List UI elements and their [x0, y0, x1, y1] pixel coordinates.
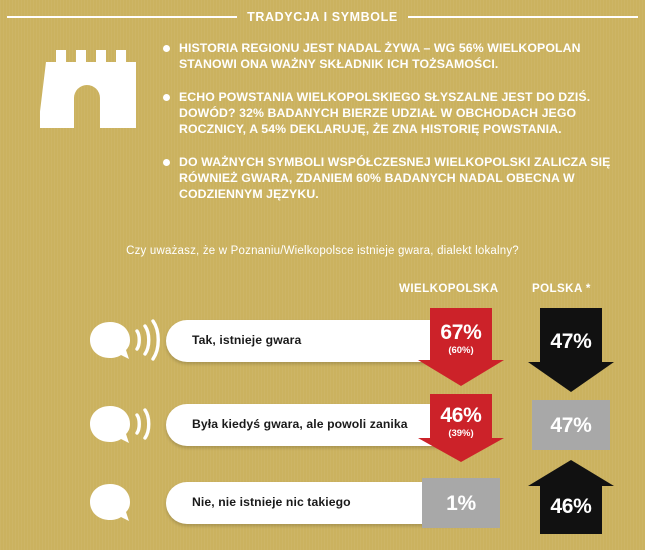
- answer-label: Nie, nie istnieje nic takiego: [166, 495, 351, 510]
- marker-polska-3: 46%: [528, 460, 614, 534]
- marker-wielkopolska-1: 67% (60%): [418, 308, 504, 386]
- infographic-page: TRADYCJA I SYMBOLE HISTORIA REGIONU JEST…: [0, 0, 645, 550]
- chart-row-3: Nie, nie istnieje nic takiego 1% 46%: [88, 472, 618, 538]
- value-sublabel: (39%): [448, 429, 473, 439]
- bullet-dot-icon: [163, 94, 170, 101]
- answer-label: Tak, istnieje gwara: [166, 333, 301, 348]
- marker-polska-2: 47%: [532, 400, 610, 450]
- speaker-icon: [88, 480, 160, 526]
- column-header-wielkopolska: WIELKOPOLSKA: [399, 282, 498, 295]
- marker-wielkopolska-3: 1%: [422, 478, 500, 528]
- header-rule-left: [7, 16, 237, 18]
- bullet-text: ECHO POWSTANIA WIELKOPOLSKIEGO SŁYSZALNE…: [179, 89, 615, 138]
- list-item: HISTORIA REGIONU JEST NADAL ŻYWA – WG 56…: [163, 40, 615, 73]
- value-label: 46%: [440, 405, 481, 426]
- marker-wielkopolska-2: 46% (39%): [418, 394, 504, 462]
- bullet-list: HISTORIA REGIONU JEST NADAL ŻYWA – WG 56…: [163, 40, 615, 219]
- header-rule-right: [408, 16, 638, 18]
- speaker-waves-icon: [88, 402, 160, 448]
- value-sublabel: (60%): [448, 346, 473, 356]
- castle-icon: [40, 36, 138, 128]
- value-label: 67%: [440, 322, 481, 343]
- answer-label: Była kiedyś gwara, ale powoli zanika: [166, 417, 408, 432]
- bullet-dot-icon: [163, 159, 170, 166]
- page-title: TRADYCJA I SYMBOLE: [247, 10, 398, 24]
- chart-row-1: Tak, istnieje gwara 67% (60%) 47%: [88, 310, 618, 376]
- column-header-polska: POLSKA *: [532, 282, 591, 295]
- list-item: DO WAŻNYCH SYMBOLI WSPÓŁCZESNEJ WIELKOPO…: [163, 154, 615, 203]
- chart-row-2: Była kiedyś gwara, ale powoli zanika 46%…: [88, 394, 618, 460]
- bullet-text: HISTORIA REGIONU JEST NADAL ŻYWA – WG 56…: [179, 40, 615, 73]
- list-item: ECHO POWSTANIA WIELKOPOLSKIEGO SŁYSZALNE…: [163, 89, 615, 138]
- bullet-text: DO WAŻNYCH SYMBOLI WSPÓŁCZESNEJ WIELKOPO…: [179, 154, 615, 203]
- value-label: 1%: [446, 493, 476, 514]
- speaker-waves-icon: [88, 318, 160, 364]
- bullet-dot-icon: [163, 45, 170, 52]
- chart-question: Czy uważasz, że w Poznaniu/Wielkopolsce …: [0, 245, 645, 257]
- value-label: 46%: [550, 496, 591, 517]
- value-label: 47%: [550, 415, 591, 436]
- marker-polska-1: 47%: [528, 308, 614, 392]
- section-header: TRADYCJA I SYMBOLE: [0, 10, 645, 24]
- value-label: 47%: [550, 331, 591, 352]
